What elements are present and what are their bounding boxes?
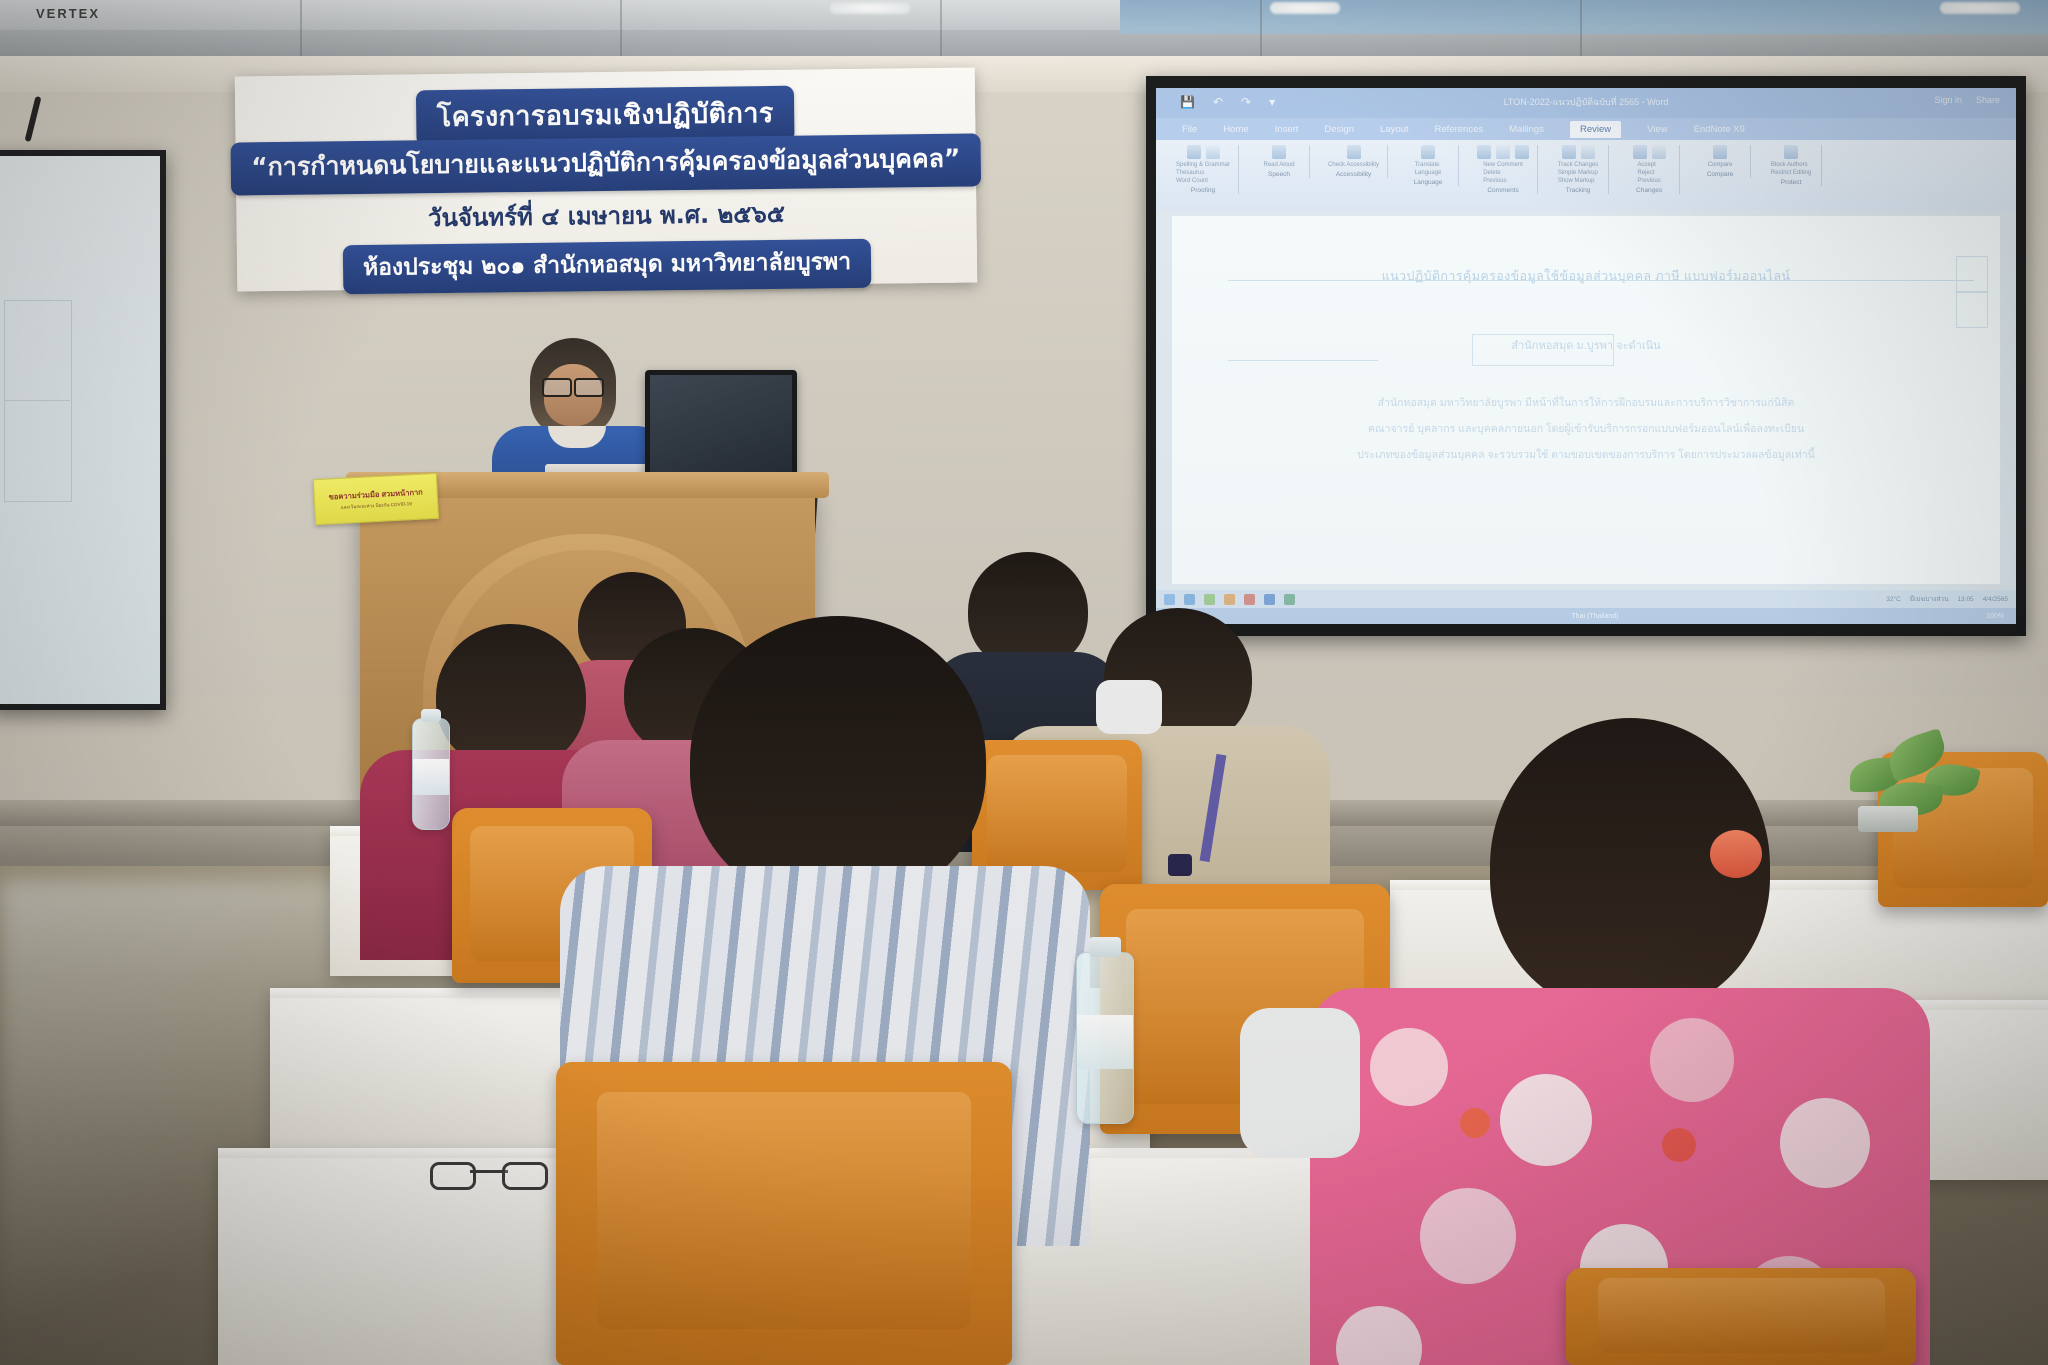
ribbon-command-icon[interactable] xyxy=(1477,145,1491,159)
wall-brand-label: VERTEX xyxy=(36,6,100,21)
ribbon-command-icon[interactable] xyxy=(1515,145,1529,159)
customize-icon[interactable]: ▾ xyxy=(1269,95,1275,109)
ribbon-command-icon[interactable] xyxy=(1187,145,1201,159)
explorer-icon[interactable] xyxy=(1204,594,1215,605)
clock-time[interactable]: 13:05 xyxy=(1957,596,1973,603)
word-tab-mailings[interactable]: Mailings xyxy=(1509,124,1544,135)
clock-date[interactable]: 4/4/2565 xyxy=(1983,596,2008,603)
chair[interactable] xyxy=(556,1062,1012,1365)
ribbon-command-list[interactable]: Compare xyxy=(1708,162,1733,168)
ribbon-group-label: Language xyxy=(1414,179,1443,186)
conference-room-photo: VERTEX 💾 ↶ ↷ ▾ LTON-2022-แนวปฏิบัติฉบับท… xyxy=(0,0,2048,1365)
ribbon-icon-row[interactable] xyxy=(1784,145,1798,159)
plant-vase xyxy=(1858,806,1918,832)
ribbon-group-label: Protect xyxy=(1781,179,1802,186)
save-icon[interactable]: 💾 xyxy=(1180,95,1195,109)
sign-in-link[interactable]: Sign in xyxy=(1934,95,1962,105)
document-paragraph: คณาจารย์ บุคลากร และบุคคลภายนอก โดยผู้เข… xyxy=(1172,424,2000,435)
ribbon-command[interactable]: Check Accessibility xyxy=(1328,162,1379,168)
document-paragraph: สำนักหอสมุด มหาวิทยาลัยบูรพา มีหน้าที่ใน… xyxy=(1172,398,2000,409)
speaker-glasses-icon xyxy=(542,378,604,393)
banner-line-3: วันจันทร์ที่ ๔ เมษายน พ.ศ. ๒๕๖๕ xyxy=(428,194,785,237)
ribbon-command[interactable]: Compare xyxy=(1708,162,1733,168)
windows-taskbar[interactable]: 32°C มีเมฆบางส่วน 13:05 4/4/2565 xyxy=(1156,590,2016,608)
word-document-title: LTON-2022-แนวปฏิบัติฉบับที่ 2565 - Word xyxy=(1504,95,1669,109)
face-mask xyxy=(1240,1008,1360,1158)
ribbon-command-icon[interactable] xyxy=(1784,145,1798,159)
ribbon-group-label: Changes xyxy=(1636,187,1662,194)
ribbon-command[interactable]: Read Aloud xyxy=(1264,162,1295,168)
ribbon-command-icon[interactable] xyxy=(1272,145,1286,159)
id-badge xyxy=(1168,854,1192,876)
banner-line-3-row: วันจันทร์ที่ ๔ เมษายน พ.ศ. ๒๕๖๕ xyxy=(236,191,976,239)
start-icon[interactable] xyxy=(1164,594,1175,605)
ribbon-icon-row[interactable] xyxy=(1562,145,1595,159)
face-mask xyxy=(1096,680,1162,734)
ribbon-command[interactable]: Show Markup xyxy=(1558,178,1598,184)
ribbon-icon-row[interactable] xyxy=(1633,145,1666,159)
word-ribbon[interactable]: Spelling & GrammarThesaurusWord CountPro… xyxy=(1156,140,2016,210)
ribbon-icon-row[interactable] xyxy=(1421,145,1435,159)
ribbon-command[interactable]: Language xyxy=(1415,170,1442,176)
eyeglasses-on-table[interactable] xyxy=(430,1158,548,1190)
document-heading: แนวปฏิบัติการคุ้มครองข้อมูลใช้ข้อมูลส่วน… xyxy=(1172,266,2000,286)
banner-line-4: ห้องประชุม ๒๐๑ สำนักหอสมุด มหาวิทยาลัยบู… xyxy=(343,239,872,294)
ribbon-command-icon[interactable] xyxy=(1496,145,1510,159)
word-tab-home[interactable]: Home xyxy=(1223,124,1248,135)
ceiling xyxy=(0,0,2048,56)
weather-condition: มีเมฆบางส่วน xyxy=(1910,594,1949,604)
word-tab-insert[interactable]: Insert xyxy=(1275,124,1299,135)
chair[interactable] xyxy=(1566,1268,1916,1365)
word-tab-endnote-x9[interactable]: EndNote X9 xyxy=(1694,124,1745,135)
presenter-monitor: ● xyxy=(645,370,797,486)
folder-icon[interactable] xyxy=(1224,594,1235,605)
ribbon-command[interactable]: Reject xyxy=(1637,170,1660,176)
banner-line-2-row: “การกำหนดนโยบายและแนวปฏิบัติการคุ้มครองข… xyxy=(236,133,977,195)
ribbon-command[interactable]: Delete xyxy=(1483,170,1523,176)
ribbon-command-icon[interactable] xyxy=(1421,145,1435,159)
ribbon-command-icon[interactable] xyxy=(1581,145,1595,159)
ribbon-group-label: Proofing xyxy=(1191,187,1215,194)
podium-sign-line-2: และเว้นระยะห่าง ป้องกัน COVID-19 xyxy=(341,501,412,512)
word-tab-references[interactable]: References xyxy=(1435,124,1484,135)
ribbon-command-list[interactable]: Block AuthorsRestrict Editing xyxy=(1771,162,1811,176)
word-tab-file[interactable]: File xyxy=(1182,124,1197,135)
ribbon-command-list[interactable]: Check Accessibility xyxy=(1328,162,1379,168)
ribbon-command-list[interactable]: Track ChangesSimple MarkupShow Markup xyxy=(1558,162,1598,184)
ribbon-icon-row[interactable] xyxy=(1187,145,1220,159)
ceiling-light xyxy=(830,2,910,14)
ribbon-command-icon[interactable] xyxy=(1652,145,1666,159)
podium-notice-sign: ขอความร่วมมือ สวมหน้ากาก และเว้นระยะห่าง… xyxy=(313,473,439,525)
language-indicator[interactable]: Thai (Thailand) xyxy=(1571,613,1618,620)
projection-screen-left xyxy=(0,150,166,710)
ribbon-command[interactable]: Simple Markup xyxy=(1558,170,1598,176)
ribbon-command[interactable]: Translate xyxy=(1415,162,1442,168)
ribbon-group-speech[interactable]: Read AloudSpeech xyxy=(1249,145,1310,178)
ribbon-command-list[interactable]: Spelling & GrammarThesaurusWord Count xyxy=(1176,162,1230,184)
banner-line-4-row: ห้องประชุม ๒๐๑ สำนักหอสมุด มหาวิทยาลัยบู… xyxy=(237,237,978,295)
ribbon-command[interactable]: Previous xyxy=(1483,178,1523,184)
ribbon-group-changes[interactable]: AcceptRejectPreviousChanges xyxy=(1619,145,1680,194)
ribbon-command[interactable]: Spelling & Grammar xyxy=(1176,162,1230,168)
projection-screen-main: 💾 ↶ ↷ ▾ LTON-2022-แนวปฏิบัติฉบับที่ 2565… xyxy=(1146,76,2026,636)
ribbon-command-icon[interactable] xyxy=(1633,145,1647,159)
ribbon-icon-row[interactable] xyxy=(1713,145,1727,159)
water-bottle[interactable] xyxy=(1076,952,1134,1124)
ribbon-command[interactable]: Previous xyxy=(1637,178,1660,184)
redo-icon[interactable]: ↷ xyxy=(1241,95,1251,109)
ribbon-group-accessibility[interactable]: Check AccessibilityAccessibility xyxy=(1320,145,1388,178)
ribbon-icon-row[interactable] xyxy=(1477,145,1529,159)
word-quick-access-toolbar[interactable]: 💾 ↶ ↷ ▾ xyxy=(1180,95,1275,109)
word-title-bar: 💾 ↶ ↷ ▾ LTON-2022-แนวปฏิบัติฉบับที่ 2565… xyxy=(1156,88,2016,118)
ribbon-group-compare[interactable]: CompareCompare xyxy=(1690,145,1751,178)
monitor-screen xyxy=(650,375,792,472)
ribbon-command[interactable]: Track Changes xyxy=(1558,162,1598,168)
document-paragraph: ประเภทของข้อมูลส่วนบุคคล จะรวบรวมใช้ ตาม… xyxy=(1172,450,2000,461)
ribbon-command[interactable]: Word Count xyxy=(1176,178,1230,184)
ribbon-group-protect[interactable]: Block AuthorsRestrict EditingProtect xyxy=(1761,145,1822,186)
word-document-canvas[interactable]: แนวปฏิบัติการคุ้มครองข้อมูลใช้ข้อมูลส่วน… xyxy=(1156,210,2016,590)
ribbon-command-icon[interactable] xyxy=(1347,145,1361,159)
ribbon-command[interactable]: Block Authors xyxy=(1771,162,1811,168)
bottle-label xyxy=(1077,1015,1133,1069)
word-tab-view[interactable]: View xyxy=(1647,124,1667,135)
projected-word-window: 💾 ↶ ↷ ▾ LTON-2022-แนวปฏิบัติฉบับที่ 2565… xyxy=(1156,88,2016,624)
ribbon-command[interactable]: Thesaurus xyxy=(1176,170,1230,176)
ribbon-group-label: Tracking xyxy=(1566,187,1591,194)
word-account-area[interactable]: Sign in Share xyxy=(1934,95,2000,105)
ribbon-command[interactable]: New Comment xyxy=(1483,162,1523,168)
ribbon-command-icon[interactable] xyxy=(1562,145,1576,159)
water-bottle[interactable] xyxy=(412,718,450,830)
document-subheading: สำนักหอสมุด ม.บูรพา จะดำเนิน xyxy=(1172,336,2000,354)
search-icon[interactable] xyxy=(1184,594,1195,605)
banner-line-2: “การกำหนดนโยบายและแนวปฏิบัติการคุ้มครองข… xyxy=(231,133,981,195)
ceiling-light xyxy=(1270,2,1340,14)
ceiling-light xyxy=(1940,2,2020,14)
ribbon-command-list[interactable]: Read Aloud xyxy=(1264,162,1295,168)
zoom-level[interactable]: 100% xyxy=(1986,613,2004,620)
ribbon-group-label: Comments xyxy=(1487,187,1518,194)
ribbon-command-icon[interactable] xyxy=(1206,145,1220,159)
word-tab-design[interactable]: Design xyxy=(1324,124,1354,135)
ribbon-group-tracking[interactable]: Track ChangesSimple MarkupShow MarkupTra… xyxy=(1548,145,1609,194)
ribbon-group-label: Accessibility xyxy=(1336,171,1371,178)
word-tab-review[interactable]: Review xyxy=(1570,121,1621,138)
ribbon-command-list[interactable]: New CommentDeletePrevious xyxy=(1483,162,1523,184)
bottle-label xyxy=(413,759,449,795)
hair-tie xyxy=(1710,830,1762,878)
word-tab-layout[interactable]: Layout xyxy=(1380,124,1409,135)
share-button[interactable]: Share xyxy=(1976,95,2000,105)
ribbon-command[interactable]: Accept xyxy=(1637,162,1660,168)
attendee-hair xyxy=(690,616,986,906)
ribbon-group-label: Speech xyxy=(1268,171,1290,178)
weather-temperature: 32°C xyxy=(1886,596,1901,603)
ribbon-command-list[interactable]: TranslateLanguage xyxy=(1415,162,1442,176)
ribbon-group-label: Compare xyxy=(1707,171,1734,178)
ribbon-icon-row[interactable] xyxy=(1272,145,1286,159)
ribbon-group-comments[interactable]: New CommentDeletePreviousComments xyxy=(1469,145,1538,194)
ribbon-icon-row[interactable] xyxy=(1347,145,1361,159)
excel-taskbar-icon[interactable] xyxy=(1284,594,1295,605)
bottle-cap xyxy=(421,709,441,722)
taskbar-tray[interactable]: 32°C มีเมฆบางส่วน 13:05 4/4/2565 xyxy=(1886,594,2008,604)
browser-icon[interactable] xyxy=(1244,594,1255,605)
ribbon-command-icon[interactable] xyxy=(1713,145,1727,159)
word-taskbar-icon[interactable] xyxy=(1264,594,1275,605)
ribbon-command[interactable]: Restrict Editing xyxy=(1771,170,1811,176)
ribbon-group-proofing[interactable]: Spelling & GrammarThesaurusWord CountPro… xyxy=(1168,145,1239,194)
word-ribbon-tabs[interactable]: FileHomeInsertDesignLayoutReferencesMail… xyxy=(1156,118,2016,140)
undo-icon[interactable]: ↶ xyxy=(1213,95,1223,109)
bottle-cap xyxy=(1089,937,1121,957)
ribbon-group-language[interactable]: TranslateLanguageLanguage xyxy=(1398,145,1459,186)
ribbon-command-list[interactable]: AcceptRejectPrevious xyxy=(1637,162,1660,184)
word-page: แนวปฏิบัติการคุ้มครองข้อมูลใช้ข้อมูลส่วน… xyxy=(1172,216,2000,584)
event-banner: โครงการอบรมเชิงปฏิบัติการ “การกำหนดนโยบา… xyxy=(235,67,978,291)
